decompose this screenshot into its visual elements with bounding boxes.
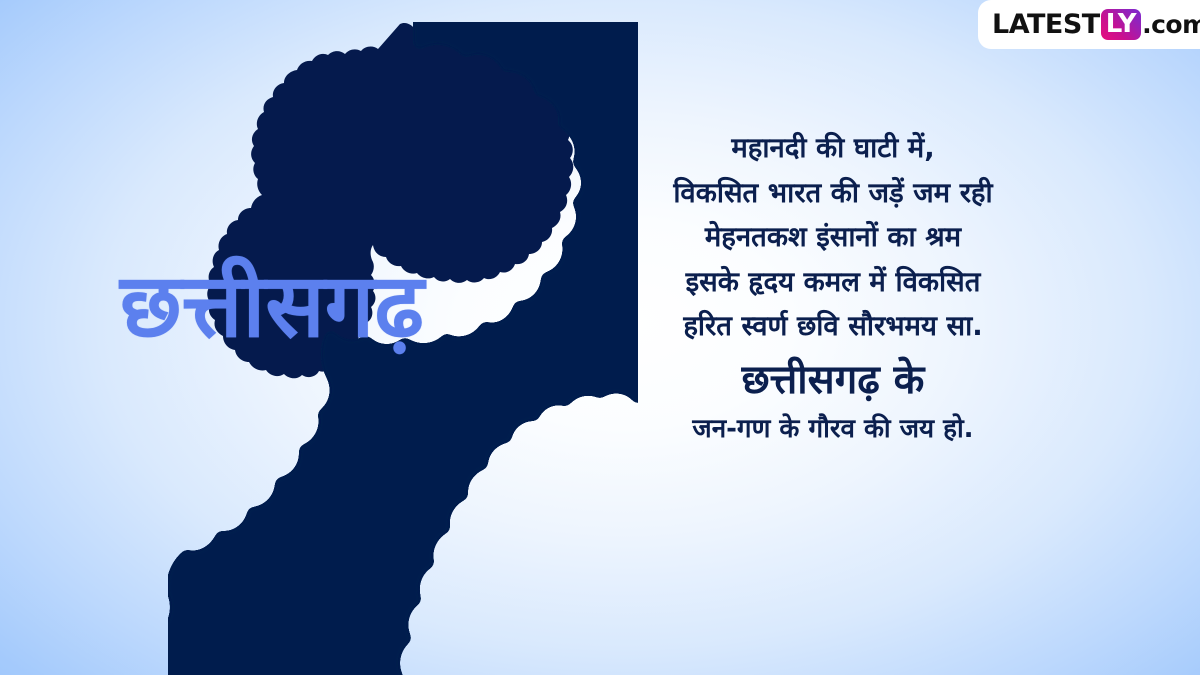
poem-line: महानदी की घाटी में,	[618, 126, 1048, 171]
latestly-logo-text: LATEST LY .com	[992, 9, 1200, 40]
poem-line: इसके हृदय कमल में विकसित	[618, 260, 1048, 305]
poster-canvas: छत्तीसगढ़ महानदी की घाटी में, विकसित भार…	[0, 0, 1200, 675]
logo-word-latest: LATEST	[992, 11, 1100, 38]
poem-line-highlight: छत्तीसगढ़ के	[618, 353, 1048, 408]
latestly-logo[interactable]: LATEST LY .com	[978, 0, 1200, 49]
poem-line: विकसित भारत की जड़ें जम रही	[618, 171, 1048, 216]
logo-badge-ly: LY	[1101, 9, 1141, 40]
logo-word-com: .com	[1142, 12, 1200, 37]
poem-line: मेहनतकश इंसानों का श्रम	[618, 215, 1048, 260]
map-state-name: छत्तीसगढ़	[120, 262, 580, 350]
poem-line: हरित स्वर्ण छवि सौरभमय सा.	[618, 304, 1048, 349]
poem-line-closing: जन-गण के गौरव की जय हो.	[618, 410, 1048, 449]
poem-block: महानदी की घाटी में, विकसित भारत की जड़ें…	[618, 126, 1048, 449]
